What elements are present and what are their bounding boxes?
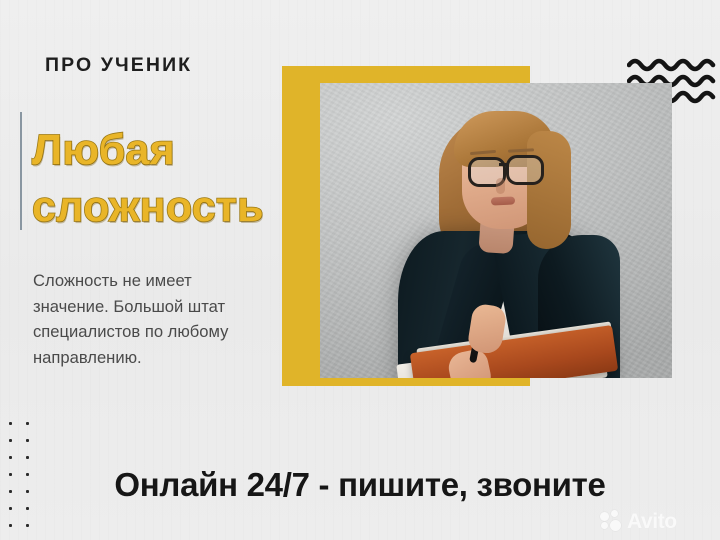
- brand-kicker: ПРО УЧЕНИК: [45, 54, 192, 77]
- figure-eyeglass-bridge: [499, 163, 508, 166]
- figure-nose: [496, 178, 505, 194]
- avito-wordmark: Avito: [627, 511, 677, 532]
- headline-line-1: Любая: [32, 126, 175, 175]
- avito-watermark: Avito: [600, 508, 712, 534]
- vertical-accent-line-icon: [20, 112, 22, 230]
- hero-photo: [320, 83, 672, 378]
- avito-circles-icon: [600, 510, 624, 532]
- figure-eyeglass-right: [506, 155, 544, 185]
- headline-line-2: сложность: [32, 183, 264, 232]
- body-copy: Сложность не имеет значение. Большой шта…: [33, 268, 271, 370]
- footer-headline: Онлайн 24/7 - пишите, звоните: [0, 466, 720, 504]
- figure-lips: [491, 196, 515, 205]
- advertisement-banner: ПРО УЧЕНИК Любая сложность Сложность не …: [0, 0, 720, 540]
